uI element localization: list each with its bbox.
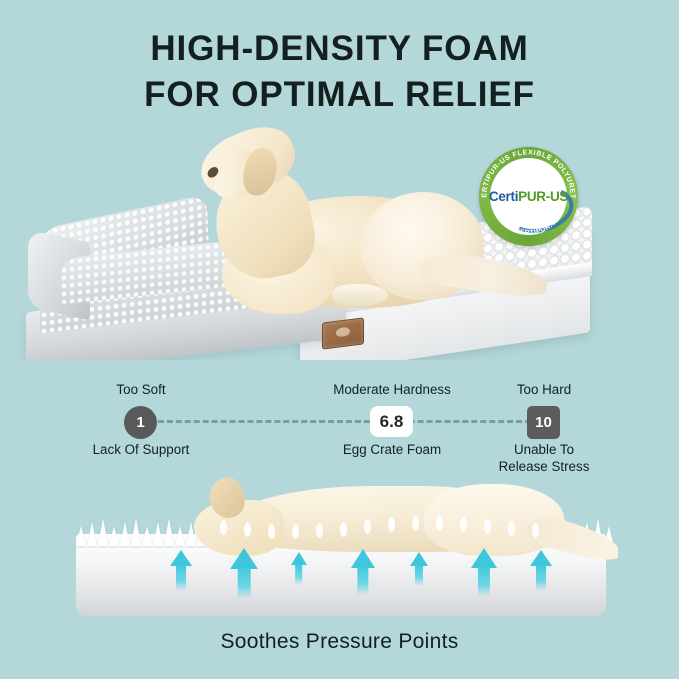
pressure-arrow bbox=[290, 552, 307, 584]
pressure-arrow-head bbox=[351, 549, 375, 568]
scale-marker-6-8: 6.8 bbox=[370, 406, 413, 437]
spine-highlight-dot bbox=[244, 522, 251, 537]
spine-highlight-dot bbox=[220, 520, 227, 535]
pressure-arrow-shaft bbox=[415, 565, 423, 586]
foam-spike bbox=[98, 518, 108, 546]
pressure-arrow-shaft bbox=[477, 567, 489, 597]
pressure-arrow-shaft bbox=[536, 566, 546, 591]
pressure-arrow bbox=[410, 552, 428, 586]
foam-spike bbox=[131, 518, 141, 546]
certipur-us-badge: CertiPUR-US CONTAINS CERTIPUR-US FLEXIBL… bbox=[479, 147, 578, 246]
bottom-caption: Soothes Pressure Points bbox=[0, 630, 679, 654]
scale-bottom-label-stress-line1: Unable To bbox=[461, 441, 627, 458]
pressure-arrow bbox=[170, 550, 192, 590]
scale-marker-1: 1 bbox=[124, 406, 157, 439]
foam-spike bbox=[142, 526, 152, 546]
foam-spike bbox=[120, 522, 130, 546]
badge-wordmark-pur: PUR-US bbox=[518, 189, 568, 204]
infographic-page: HIGH-DENSITY FOAM FOR OPTIMAL RELIEF bbox=[0, 0, 679, 679]
hero-product-scene bbox=[0, 108, 679, 360]
pressure-arrow bbox=[470, 548, 497, 596]
pressure-arrow-head bbox=[170, 550, 192, 566]
foam-spike bbox=[153, 522, 163, 546]
spine-highlight-dot bbox=[484, 519, 491, 534]
scale-top-label-moderate: Moderate Hardness bbox=[311, 381, 473, 398]
scale-top-label-hard: Too Hard bbox=[461, 381, 627, 398]
spine-highlight-dot bbox=[340, 522, 347, 537]
pressure-arrow-head bbox=[410, 552, 428, 566]
scale-bottom-label-foam: Egg Crate Foam bbox=[311, 441, 473, 458]
firmness-scale: Too Soft Moderate Hardness Too Hard 1 6.… bbox=[0, 375, 679, 470]
pressure-relief-scene bbox=[62, 468, 618, 620]
spine-highlight-dot bbox=[436, 516, 443, 531]
badge-wordmark: CertiPUR-US bbox=[489, 189, 568, 204]
pressure-arrow bbox=[350, 549, 375, 595]
pressure-arrow-shaft bbox=[357, 567, 368, 596]
scale-dashed-line bbox=[140, 420, 540, 423]
scale-top-label-soft: Too Soft bbox=[60, 381, 222, 398]
pressure-arrow-shaft bbox=[295, 565, 303, 585]
pressure-arrow-head bbox=[530, 550, 552, 566]
pressure-arrow-head bbox=[291, 552, 307, 565]
scale-marker-10: 10 bbox=[527, 406, 560, 439]
pressure-arrow-head bbox=[471, 548, 497, 568]
pressure-arrow-shaft bbox=[176, 566, 186, 591]
labrador-dog-photo bbox=[182, 108, 532, 348]
foam-spike bbox=[164, 518, 174, 546]
scale-bottom-label-support: Lack Of Support bbox=[60, 441, 222, 458]
dog-paw bbox=[332, 284, 388, 306]
pressure-arrow bbox=[230, 548, 258, 598]
spine-highlight-dot bbox=[268, 524, 275, 539]
pressure-arrow-shaft bbox=[238, 568, 251, 599]
pressure-arrow bbox=[530, 550, 552, 590]
spine-highlight-dot bbox=[292, 524, 299, 539]
badge-wordmark-certi: Certi bbox=[489, 189, 518, 204]
page-title: HIGH-DENSITY FOAM FOR OPTIMAL RELIEF bbox=[0, 26, 679, 117]
pressure-arrow-head bbox=[230, 548, 258, 569]
spine-highlight-dot bbox=[532, 523, 539, 538]
badge-inner-disc: CertiPUR-US bbox=[490, 158, 567, 235]
foam-spike bbox=[76, 526, 86, 546]
foam-spike bbox=[87, 522, 97, 546]
foam-spike bbox=[109, 526, 119, 546]
headline-line-1: HIGH-DENSITY FOAM bbox=[0, 26, 679, 72]
